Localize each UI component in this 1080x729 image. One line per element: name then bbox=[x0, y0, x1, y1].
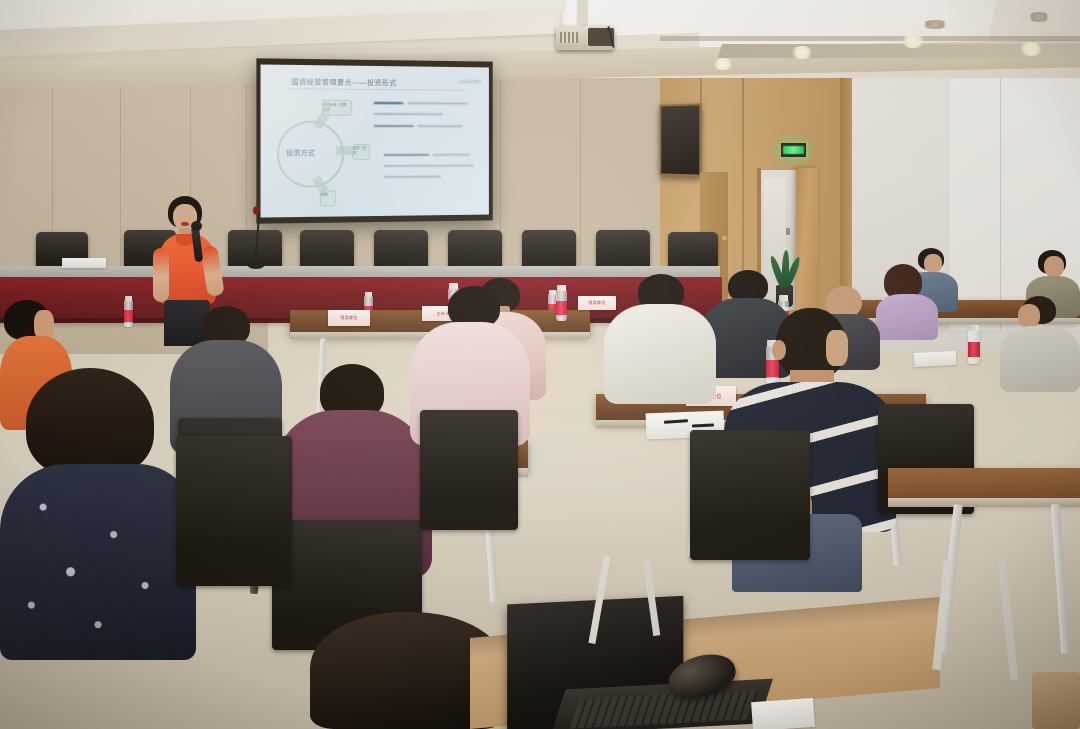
presenter-mouth bbox=[181, 222, 189, 226]
projection-screen: 国资经营管理要点——投资形式 公司培训课程 投资方式 货币出资 / 实物出资 股… bbox=[256, 58, 492, 223]
foreground-paper bbox=[751, 698, 815, 729]
water-bottle-head-2-cap bbox=[365, 292, 372, 297]
conference-room-photo: 国资经营管理要点——投资形式 公司培训课程 投资方式 货币出资 / 实物出资 股… bbox=[0, 0, 1080, 729]
wall-white-seam bbox=[1000, 50, 1001, 330]
attendee-striped-face bbox=[826, 330, 848, 366]
projection-screen-surface: 国资经营管理要点——投资形式 公司培训课程 投资方式 货币出资 / 实物出资 股… bbox=[261, 64, 489, 217]
head-table-paper-1 bbox=[62, 258, 106, 268]
wall-seam-6 bbox=[580, 72, 581, 297]
attendee-navy-torso bbox=[0, 464, 196, 660]
attendee-navy-patterned bbox=[0, 368, 200, 658]
name-card-1: 领导席位 bbox=[328, 310, 370, 326]
water-bottle-head-3-cap bbox=[549, 290, 556, 295]
attendee-navy-hair bbox=[26, 368, 154, 478]
exit-sign-glow bbox=[783, 146, 805, 154]
downlight-4 bbox=[1018, 42, 1044, 56]
attendee-striped-ear bbox=[772, 340, 786, 360]
table-far-right bbox=[888, 468, 1080, 502]
water-bottle-head-1-cap bbox=[125, 296, 132, 301]
downlight-3 bbox=[900, 34, 926, 48]
attendee-olive-face bbox=[1044, 256, 1064, 277]
exit-sign-icon bbox=[779, 141, 808, 159]
wall-speaker-icon bbox=[659, 103, 701, 176]
water-bottle-r1-cap bbox=[969, 325, 979, 331]
gooseneck-mic-head bbox=[253, 206, 260, 215]
projector-vent bbox=[560, 32, 578, 43]
attendee-white-tshirt-torso bbox=[604, 304, 716, 404]
ceiling-shadow-line bbox=[659, 36, 1080, 41]
downlight-1 bbox=[712, 58, 734, 70]
water-bottle-m2-cap bbox=[557, 285, 566, 291]
presenter-glasses-icon bbox=[173, 212, 197, 218]
projector-mount-stem bbox=[578, 0, 587, 26]
foreground-object-right bbox=[1032, 672, 1080, 729]
door-handle-icon bbox=[786, 228, 790, 235]
door-left-handle-icon bbox=[722, 236, 727, 240]
water-bottle-r1-label bbox=[968, 342, 980, 357]
chair-right-striped[interactable] bbox=[690, 430, 810, 560]
water-bottle-m2-label bbox=[556, 301, 567, 315]
downlight-2 bbox=[790, 46, 814, 59]
ceiling-vent bbox=[922, 20, 948, 29]
gooseneck-mic-base bbox=[248, 262, 264, 269]
handheld-microphone-head bbox=[191, 221, 202, 231]
attendee-dark-right-face bbox=[1018, 304, 1040, 328]
water-bottle-head-1-label bbox=[124, 310, 133, 322]
chair-left-1[interactable] bbox=[176, 436, 292, 586]
attendee-dark-right-torso bbox=[1000, 326, 1080, 392]
presenter-arm-left bbox=[153, 248, 169, 302]
chair-center-3[interactable] bbox=[420, 410, 518, 530]
slide-glare bbox=[261, 64, 489, 217]
downlight-5 bbox=[1028, 12, 1050, 22]
attendee-dark-right bbox=[1000, 296, 1080, 392]
notepad-r1 bbox=[914, 351, 957, 367]
attendee-white-tshirt bbox=[604, 274, 716, 404]
name-card-1-text: 领导席位 bbox=[340, 315, 358, 321]
